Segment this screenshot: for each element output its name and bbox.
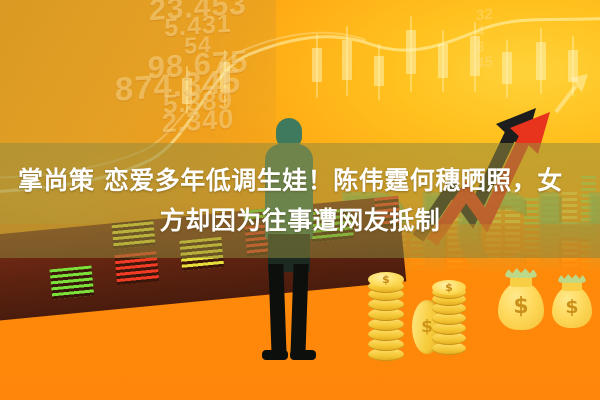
silhouette-leg-right [290, 264, 308, 356]
silhouette-shoe-right [290, 350, 316, 360]
silhouette-shoe-left [262, 350, 288, 360]
money-bag-tie-2 [558, 274, 585, 283]
coin-stack-2: $ [432, 280, 466, 358]
silhouette-leg-left [268, 264, 286, 356]
coin-dollar-sign-2: $ [432, 280, 466, 295]
coin-stack-1: $ [368, 272, 404, 364]
money-bag-tie-1 [505, 268, 536, 278]
money-bag-dollar-1: $ [498, 294, 544, 319]
banner-image: 23.453 5.431 54 98.675 874.345 5.389 2.3… [0, 0, 600, 400]
coin-dollar-sign-1: $ [368, 272, 404, 287]
money-bag-1: $ [498, 268, 544, 330]
headline-line-2: 方却因为往事遭网友抵制 [160, 201, 441, 241]
money-bag-dollar-2: $ [552, 296, 592, 318]
money-bag-2: $ [552, 274, 592, 328]
headline-line-1: 掌尚策 恋爱多年低调生娃！陈伟霆何穗晒照，女 [18, 161, 563, 201]
headline-block: 掌尚策 恋爱多年低调生娃！陈伟霆何穗晒照，女 方却因为往事遭网友抵制 [0, 143, 600, 258]
